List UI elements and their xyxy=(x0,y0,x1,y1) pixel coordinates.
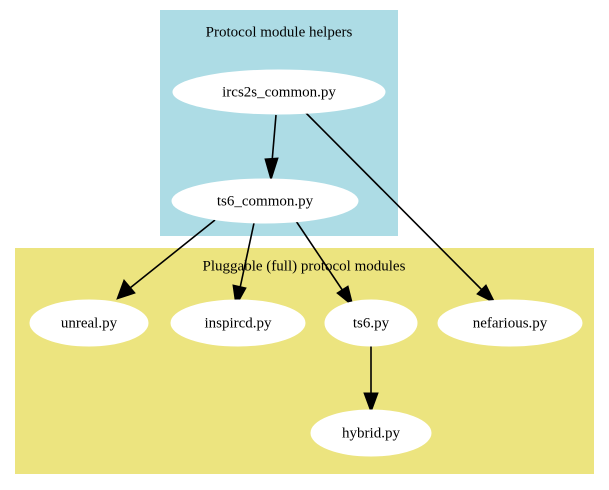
cluster-helpers-label: Protocol module helpers xyxy=(206,24,353,40)
node-label: ts6_common.py xyxy=(217,193,314,209)
node-unreal[interactable]: unreal.py xyxy=(30,300,148,346)
cluster-pluggable-label: Pluggable (full) protocol modules xyxy=(203,258,406,274)
node-label: nefarious.py xyxy=(473,315,548,331)
node-label: unreal.py xyxy=(61,315,118,331)
node-ircs2s-common[interactable]: ircs2s_common.py xyxy=(173,70,385,114)
node-label: hybrid.py xyxy=(342,425,400,441)
node-ts6[interactable]: ts6.py xyxy=(325,300,417,346)
diagram-canvas: Protocol module helpers Pluggable (full)… xyxy=(0,0,609,490)
cluster-pluggable: Pluggable (full) protocol modules xyxy=(15,248,594,474)
node-ts6-common[interactable]: ts6_common.py xyxy=(172,179,358,223)
node-inspircd[interactable]: inspircd.py xyxy=(171,300,305,346)
node-label: ircs2s_common.py xyxy=(222,84,336,100)
node-label: ts6.py xyxy=(353,315,390,331)
node-hybrid[interactable]: hybrid.py xyxy=(311,410,431,456)
cluster-pluggable-background xyxy=(15,248,594,474)
node-label: inspircd.py xyxy=(204,315,272,331)
node-nefarious[interactable]: nefarious.py xyxy=(438,300,582,346)
graph-svg: Protocol module helpers Pluggable (full)… xyxy=(0,0,609,490)
